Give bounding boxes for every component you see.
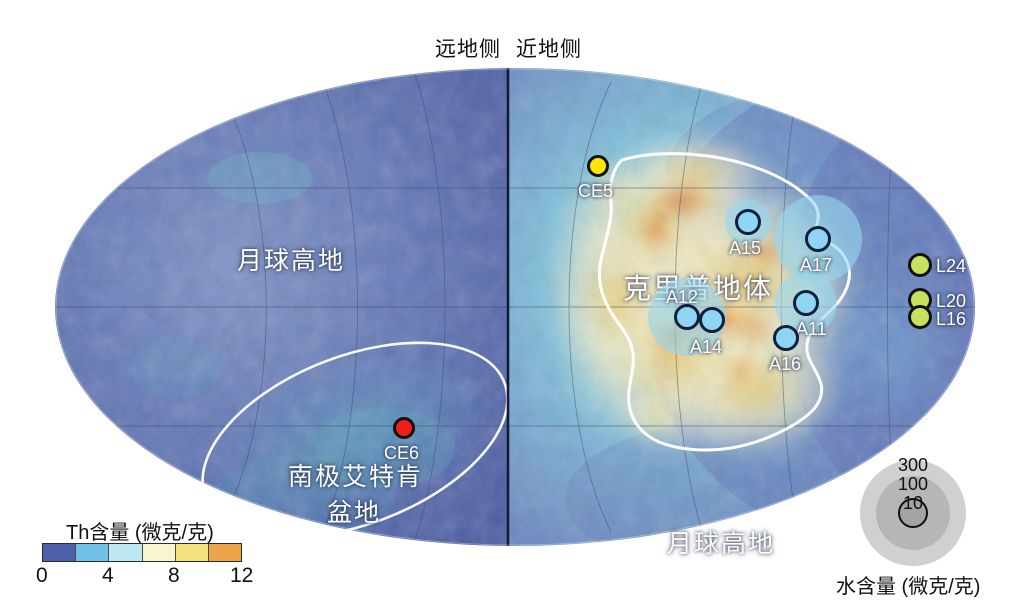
site-marker-a16[interactable] (773, 325, 799, 351)
site-marker-a11[interactable] (793, 290, 819, 316)
colorbar-segment-0 (43, 544, 76, 561)
site-marker-a14[interactable] (699, 307, 725, 333)
colorbar-segment-5 (209, 544, 241, 561)
site-marker-a15[interactable] (735, 209, 761, 235)
lunar-map: 月球高地 月球高地 克里普地体 南极艾特肯 盆地 (55, 68, 975, 546)
water-legend-title: 水含量 (微克/克) (836, 570, 980, 599)
site-marker-a17[interactable] (805, 226, 831, 252)
colorbar-title: Th含量 (微克/克) (66, 516, 214, 545)
colorbar-tick-4: 4 (102, 564, 114, 588)
site-marker-ce5[interactable] (587, 155, 609, 177)
mollweide-map-svg (55, 68, 975, 546)
site-marker-ce6[interactable] (393, 417, 415, 439)
colorbar-tick-12: 12 (230, 564, 253, 588)
figure-canvas: 远地侧 近地侧 (0, 0, 1024, 609)
water-content-legend: 300 100 10 水含量 (微克/克) (848, 452, 1008, 592)
nearside-label: 近地侧 (516, 33, 582, 63)
water-label-10: 10 (883, 493, 943, 514)
site-marker-a12[interactable] (674, 304, 700, 330)
site-marker-l16[interactable] (908, 305, 932, 329)
colorbar-segment-3 (143, 544, 176, 561)
colorbar-segment-4 (176, 544, 209, 561)
colorbar-tick-8: 8 (168, 564, 180, 588)
site-marker-l24[interactable] (908, 253, 932, 277)
colorbar-segment-1 (76, 544, 109, 561)
water-label-100: 100 (883, 474, 943, 495)
colorbar-tick-0: 0 (36, 564, 48, 588)
colorbar-segment-2 (109, 544, 142, 561)
colorbar-gradient (42, 543, 242, 562)
farside-label: 远地侧 (435, 33, 501, 63)
water-label-300: 300 (883, 455, 943, 476)
